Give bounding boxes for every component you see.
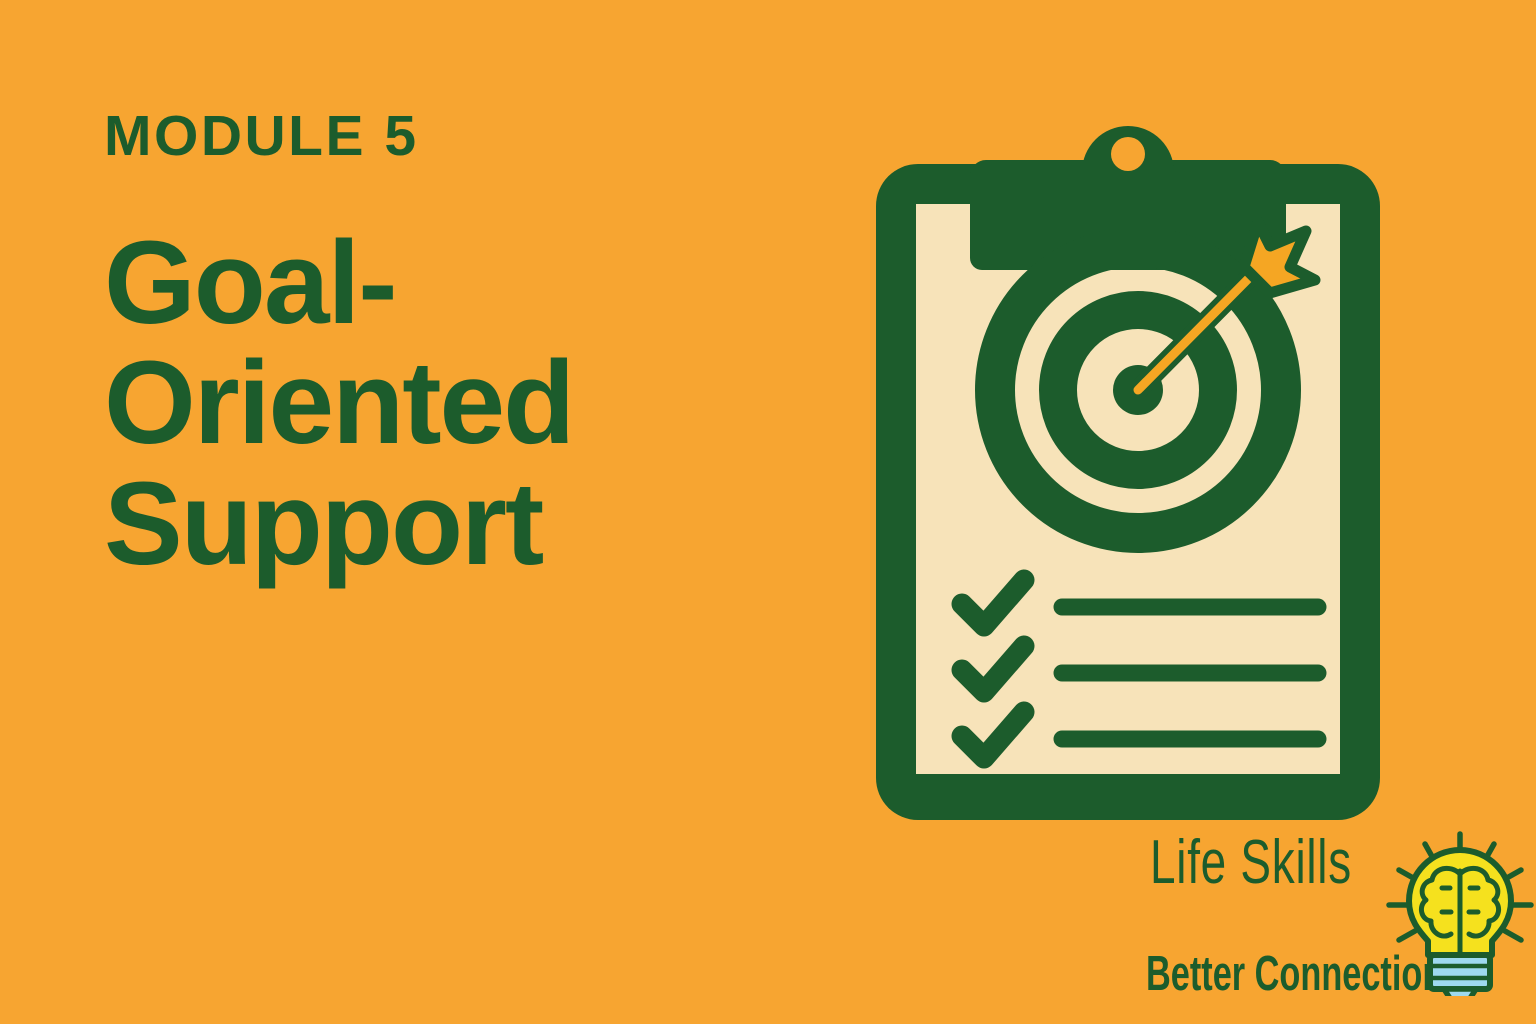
page-title-line-2: Oriented: [104, 343, 804, 463]
brand-name: Life Skills: [1150, 832, 1372, 894]
page-title-line-3: Support: [104, 464, 804, 584]
page-title: Goal- Oriented Support: [104, 223, 804, 584]
slide-text-block: MODULE 5 Goal- Oriented Support: [104, 108, 804, 584]
lightbulb-brain-icon: [1372, 828, 1534, 996]
brand-logo: Life Skills Better Connections: [1150, 832, 1530, 1012]
clip-hole: [1111, 137, 1145, 171]
module-label: MODULE 5: [104, 108, 804, 165]
slide-canvas: MODULE 5 Goal- Oriented Support: [0, 0, 1536, 1024]
page-title-line-1: Goal-: [104, 223, 804, 343]
goal-clipboard-illustration: [866, 112, 1390, 826]
bulb-base: [1430, 955, 1490, 996]
